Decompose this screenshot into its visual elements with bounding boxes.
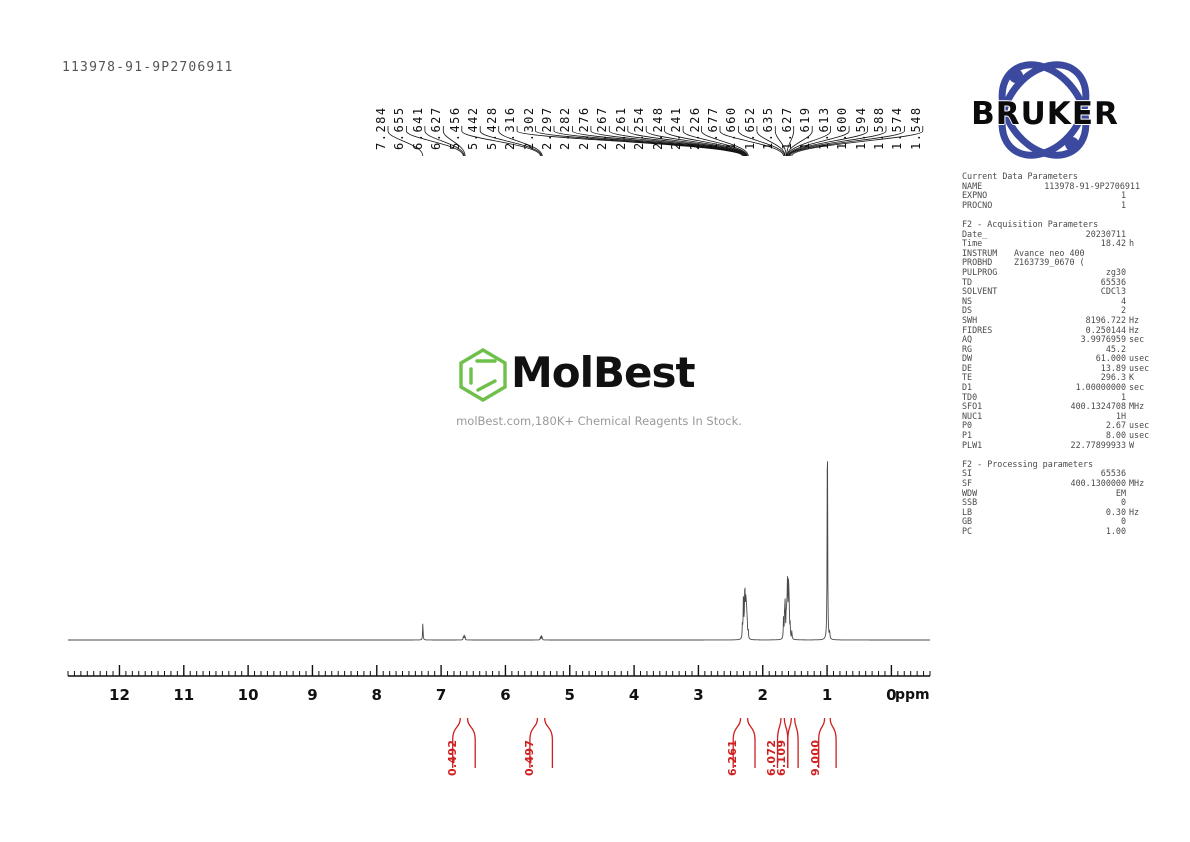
axis-tick-label: 8 bbox=[372, 686, 382, 704]
integral-value-label: 6.261 bbox=[726, 740, 739, 776]
axis-tick-label: 10 bbox=[238, 686, 259, 704]
axis-unit-label: ppm bbox=[895, 687, 930, 703]
integral-curve bbox=[830, 718, 836, 768]
integral-value-label: 6.109 bbox=[775, 740, 788, 776]
integral-curve bbox=[748, 718, 755, 768]
integral-curve bbox=[545, 718, 553, 768]
axis-tick-label: 12 bbox=[109, 686, 130, 704]
axis-tick-label: 3 bbox=[693, 686, 703, 704]
integral-curve bbox=[788, 718, 792, 768]
axis-tick-label: 4 bbox=[629, 686, 639, 704]
integral-value-label: 0.497 bbox=[523, 740, 536, 776]
spectrum-trace bbox=[68, 461, 930, 640]
axis-tick-label: 2 bbox=[758, 686, 768, 704]
integral-value-label: 9.000 bbox=[809, 740, 822, 776]
axis-ruler bbox=[68, 665, 930, 676]
integral-value-label: 0.492 bbox=[446, 740, 459, 776]
axis-tick-label: 1 bbox=[822, 686, 832, 704]
nmr-spectrum-plot bbox=[0, 0, 1190, 842]
axis-tick-label: 5 bbox=[565, 686, 575, 704]
integral-curve bbox=[468, 718, 476, 768]
integral-curve bbox=[795, 718, 799, 768]
axis-tick-label: 7 bbox=[436, 686, 446, 704]
axis-tick-label: 6 bbox=[500, 686, 510, 704]
axis-tick-label: 9 bbox=[307, 686, 317, 704]
axis-tick-label: 11 bbox=[173, 686, 194, 704]
